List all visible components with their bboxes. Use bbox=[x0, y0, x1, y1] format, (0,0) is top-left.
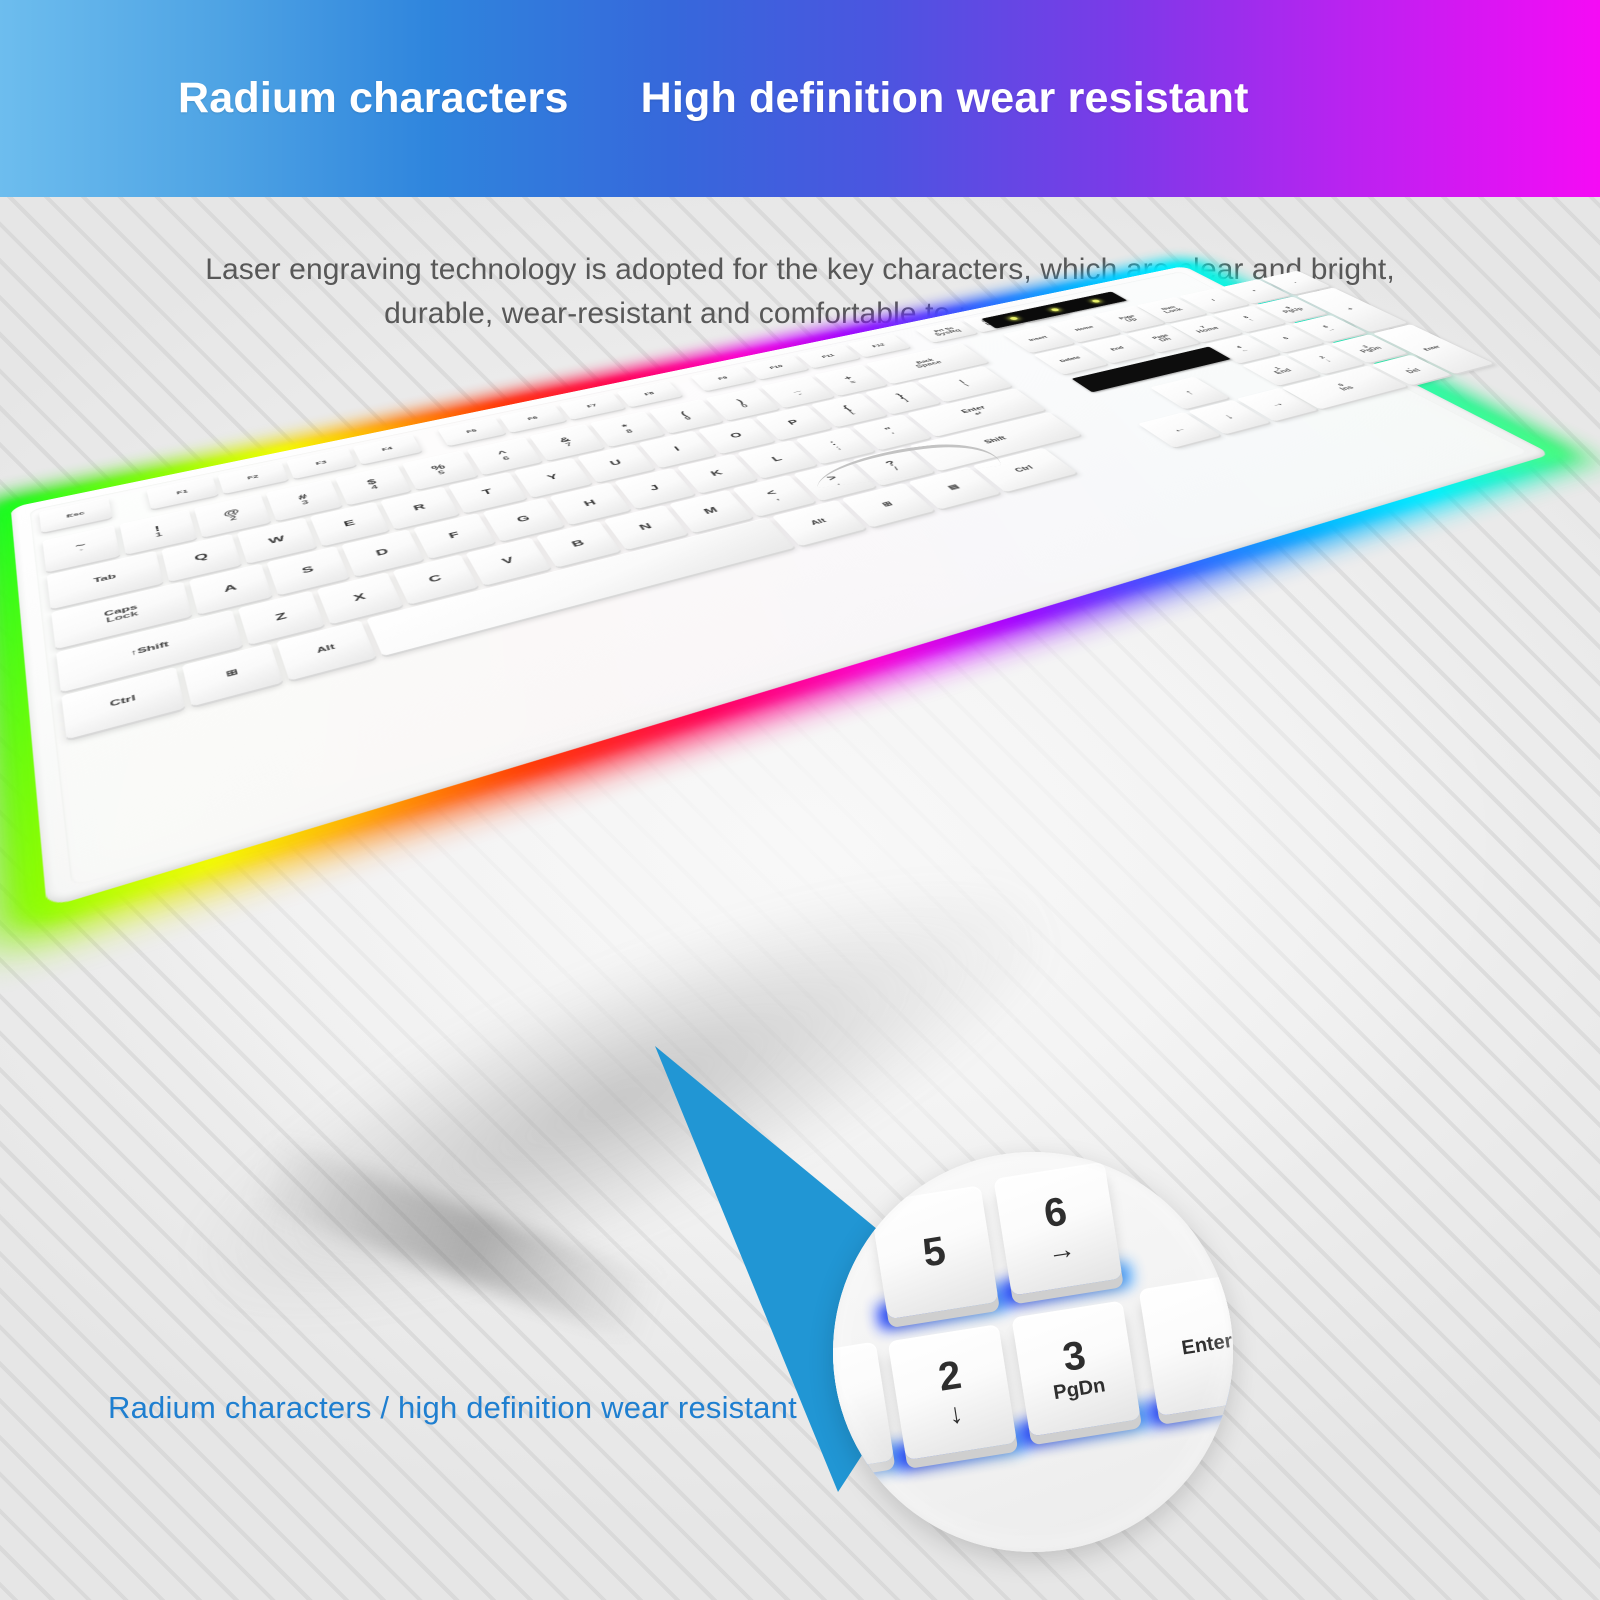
keycap-label: F9 bbox=[717, 376, 729, 381]
keycap-label: ← bbox=[1169, 425, 1189, 434]
keycap-label: - bbox=[1292, 281, 1299, 284]
keycap-sublabel: SysRq bbox=[934, 329, 963, 337]
keycap-label: U bbox=[608, 459, 623, 468]
keycap-sublabel: ' bbox=[891, 432, 898, 437]
keycap-label: Q bbox=[193, 552, 209, 563]
keycap-label: $ bbox=[366, 478, 378, 486]
keycap-sublabel: PgDn bbox=[1359, 346, 1384, 354]
magnified-keycap[interactable]: 2↓ bbox=[888, 1324, 1017, 1460]
keycap-sublabel: 6 bbox=[502, 456, 511, 462]
keycap[interactable]: $4 bbox=[335, 464, 412, 505]
keycap-label: C bbox=[427, 573, 443, 584]
keycap-label: _ bbox=[789, 386, 802, 393]
keycap-label: F4 bbox=[381, 446, 393, 452]
keycap-label: Home bbox=[1074, 325, 1095, 331]
keycap-label: ↑Shift bbox=[130, 641, 170, 657]
keycap-label: R bbox=[412, 503, 427, 513]
keycap-label: V bbox=[500, 556, 516, 567]
keycap[interactable]: M bbox=[669, 490, 753, 533]
keycap-sublabel: Del bbox=[1405, 368, 1423, 375]
magnified-keycap[interactable]: 3PgDn bbox=[1011, 1300, 1140, 1436]
keyboard-scene: EscF1F2F3F4F5F6F7F8F9F10F11F12Prt ScSysR… bbox=[0, 0, 1600, 1403]
magnified-keycap-arrow: ↓ bbox=[947, 1399, 965, 1429]
keycap[interactable]: Alt bbox=[276, 620, 376, 681]
keycap-sublabel: , bbox=[773, 496, 781, 502]
keycap-label: " bbox=[882, 426, 895, 433]
keycap-label: E bbox=[342, 519, 356, 529]
status-led-indicator bbox=[1009, 316, 1019, 320]
keycap-label: 6 bbox=[1321, 325, 1329, 328]
keycap-sublabel: PgUp bbox=[1282, 307, 1306, 314]
keycap[interactable]: Alt bbox=[772, 500, 867, 546]
magnified-keycap[interactable]: Enter bbox=[1139, 1271, 1233, 1416]
keycap-label: Ctrl bbox=[109, 695, 136, 709]
keycap-label: . bbox=[1404, 366, 1412, 369]
keycap-label: ) bbox=[735, 398, 745, 404]
magnified-keycap-arrow: ↑ bbox=[833, 1416, 842, 1446]
keycap-label: : bbox=[827, 439, 838, 446]
keycap-label: I bbox=[672, 445, 681, 452]
keycap-label: F10 bbox=[769, 364, 785, 370]
magnified-keycap-number: 1 bbox=[833, 1372, 841, 1415]
magnified-keycap-number: 3 bbox=[1060, 1335, 1088, 1378]
magnified-keycap-label: PgDn bbox=[1052, 1374, 1107, 1405]
keycap-label: ( bbox=[679, 411, 689, 418]
bottom-caption: Radium characters / high definition wear… bbox=[108, 1390, 797, 1426]
keycap[interactable]: ⊞ bbox=[841, 483, 935, 528]
keycap-label: ⊞ bbox=[881, 501, 895, 508]
keycap[interactable]: Q bbox=[161, 534, 241, 582]
keycap-label: 8 bbox=[1242, 316, 1250, 319]
keycap-label: T bbox=[481, 488, 494, 497]
magnified-keycap-number: 5 bbox=[920, 1231, 948, 1274]
keycap[interactable]: ~` bbox=[42, 525, 120, 572]
keycap[interactable]: C bbox=[392, 554, 478, 604]
keycap-label: F11 bbox=[821, 354, 836, 359]
keycap-sublabel: ; bbox=[834, 446, 842, 451]
magnified-keycap-number: 2 bbox=[936, 1355, 964, 1398]
keycap-sublabel: \ bbox=[963, 383, 971, 387]
keycap-sublabel: Dn bbox=[1158, 337, 1174, 343]
magnified-keycap-number: 6 bbox=[1041, 1191, 1069, 1234]
magnified-keycap-arrow: → bbox=[1045, 1234, 1077, 1266]
keycap-label: ↑ bbox=[1182, 389, 1196, 396]
magnifier-scene: 56→1↑2↓3PgDnEnter bbox=[833, 1152, 1233, 1552]
keycap-label: F12 bbox=[871, 343, 886, 348]
keycap-sublabel: → bbox=[1325, 327, 1338, 332]
keycap-label: O bbox=[728, 431, 744, 439]
keycap-label: F7 bbox=[586, 403, 598, 408]
keycap-label: F5 bbox=[466, 429, 478, 435]
keycap-label: Shift bbox=[983, 436, 1009, 445]
keycap-sublabel: 9 bbox=[684, 416, 693, 421]
keycap-label: K bbox=[709, 469, 725, 478]
keycap-label: Insert bbox=[1028, 335, 1049, 342]
keycap-label: & bbox=[558, 436, 573, 444]
keycap[interactable]: %5 bbox=[402, 451, 478, 490]
keycap-label: 1 bbox=[1273, 366, 1282, 370]
keycap-label: | bbox=[958, 380, 965, 384]
keycap-label: Z bbox=[274, 611, 288, 623]
keycap-sublabel: 8 bbox=[625, 429, 634, 435]
keycap-label: F2 bbox=[247, 474, 259, 480]
keycap-sublabel: 7 bbox=[565, 442, 574, 448]
keycap[interactable]: Z bbox=[238, 591, 325, 645]
keycap-label: F3 bbox=[315, 460, 327, 466]
keycap-label: { bbox=[841, 405, 852, 412]
keycap-sublabel: ← bbox=[1238, 348, 1252, 353]
keycap-label: Y bbox=[546, 473, 560, 482]
keycap-sublabel: Up bbox=[1124, 317, 1139, 322]
magnified-keycap[interactable]: 5 bbox=[870, 1185, 999, 1319]
keycap-label: Back bbox=[915, 358, 935, 364]
keycap-sublabel: End bbox=[1273, 368, 1294, 375]
keycap-sublabel: Home bbox=[1195, 326, 1221, 334]
keycap-label: P bbox=[786, 419, 801, 427]
keyboard-product: EscF1F2F3F4F5F6F7F8F9F10F11F12Prt ScSysR… bbox=[11, 266, 1552, 908]
keycap-label: F8 bbox=[644, 391, 656, 396]
keycap-label: F bbox=[447, 531, 461, 541]
keycap-sublabel: Space bbox=[915, 360, 944, 369]
keycap[interactable]: R bbox=[380, 487, 460, 530]
keycap-label: L bbox=[770, 455, 784, 463]
keycap[interactable]: V bbox=[465, 537, 551, 585]
keycap-sublabel: 1 bbox=[155, 532, 163, 539]
keycap-sublabel: Lock bbox=[1162, 308, 1184, 315]
keycap-label: / bbox=[1211, 299, 1217, 302]
magnified-keycap[interactable]: 6→ bbox=[993, 1162, 1122, 1296]
keycap-label: 0 bbox=[1336, 383, 1345, 387]
keycap[interactable] bbox=[366, 517, 795, 656]
keycap-label: Page bbox=[1117, 314, 1136, 320]
keycap-label: → bbox=[1267, 400, 1287, 408]
keycap-label: End bbox=[1109, 346, 1125, 352]
keycap-label: 4 bbox=[1235, 345, 1243, 349]
keycap-label: * bbox=[620, 423, 630, 430]
keycap-sublabel: ] bbox=[902, 398, 910, 403]
keycap-label: Alt bbox=[809, 518, 828, 527]
keycap-label: B bbox=[570, 538, 586, 548]
keycap[interactable]: ⊞ bbox=[182, 643, 283, 706]
keycap-sublabel: ↑ bbox=[1247, 318, 1257, 322]
product-marketing-image: Radium characters High definition wear r… bbox=[0, 0, 1600, 1600]
keycap-label: 3 bbox=[1361, 345, 1370, 349]
keycap-label: < bbox=[764, 488, 779, 497]
keycap-label: ^ bbox=[496, 449, 509, 457]
keycap-label: Prt Sc bbox=[933, 326, 955, 333]
keycap-label: 5 bbox=[1282, 337, 1290, 341]
keycap-label: ▤ bbox=[947, 484, 962, 491]
keycap-sublabel: 0 bbox=[740, 404, 749, 409]
keycap-label: Ctrl bbox=[1014, 465, 1036, 474]
keycap-label: 9 bbox=[1284, 306, 1292, 309]
keycap-sublabel: [ bbox=[848, 410, 856, 415]
status-led-indicator bbox=[1050, 308, 1060, 312]
magnified-keycap[interactable]: 1↑ bbox=[833, 1342, 894, 1478]
keycap-sublabel: - bbox=[796, 392, 803, 397]
keycap-label: X bbox=[352, 592, 367, 603]
magnified-keys-circle: 56→1↑2↓3PgDnEnter bbox=[833, 1152, 1233, 1552]
keycap-sublabel: 5 bbox=[437, 470, 446, 476]
keycap-label: + bbox=[842, 375, 855, 382]
keycap[interactable]: <, bbox=[732, 475, 816, 517]
keycap-label: Delete bbox=[1059, 356, 1083, 363]
keycap-label: } bbox=[894, 393, 905, 399]
keycap-label: ↓ bbox=[1222, 413, 1237, 420]
keycap-label: F6 bbox=[527, 416, 539, 421]
keycap-label: % bbox=[430, 463, 447, 472]
keycap-label: Enter bbox=[1422, 345, 1442, 351]
keycap-label: 2 bbox=[1318, 355, 1327, 359]
keycap-label: * bbox=[1252, 290, 1259, 293]
status-led-indicator bbox=[1091, 299, 1101, 303]
keycap-label: 7 bbox=[1199, 325, 1207, 328]
keycap-label: + bbox=[1346, 307, 1356, 311]
keycap-sublabel: ↓ bbox=[1323, 358, 1333, 362]
keycap-sublabel: Ins bbox=[1339, 385, 1357, 392]
keycap-label: M bbox=[702, 506, 720, 516]
magnified-keycap-label: Enter bbox=[1180, 1329, 1233, 1360]
magnifier-keycap-grid: 56→1↑2↓3PgDnEnter bbox=[833, 1152, 1233, 1552]
keycap-label: Enter bbox=[960, 405, 987, 414]
keycap-label: Num bbox=[1160, 305, 1177, 310]
keycap-sublabel: = bbox=[849, 380, 859, 385]
keycap-label: Page bbox=[1151, 334, 1170, 340]
keycap-sublabel: ↵ bbox=[973, 411, 986, 417]
